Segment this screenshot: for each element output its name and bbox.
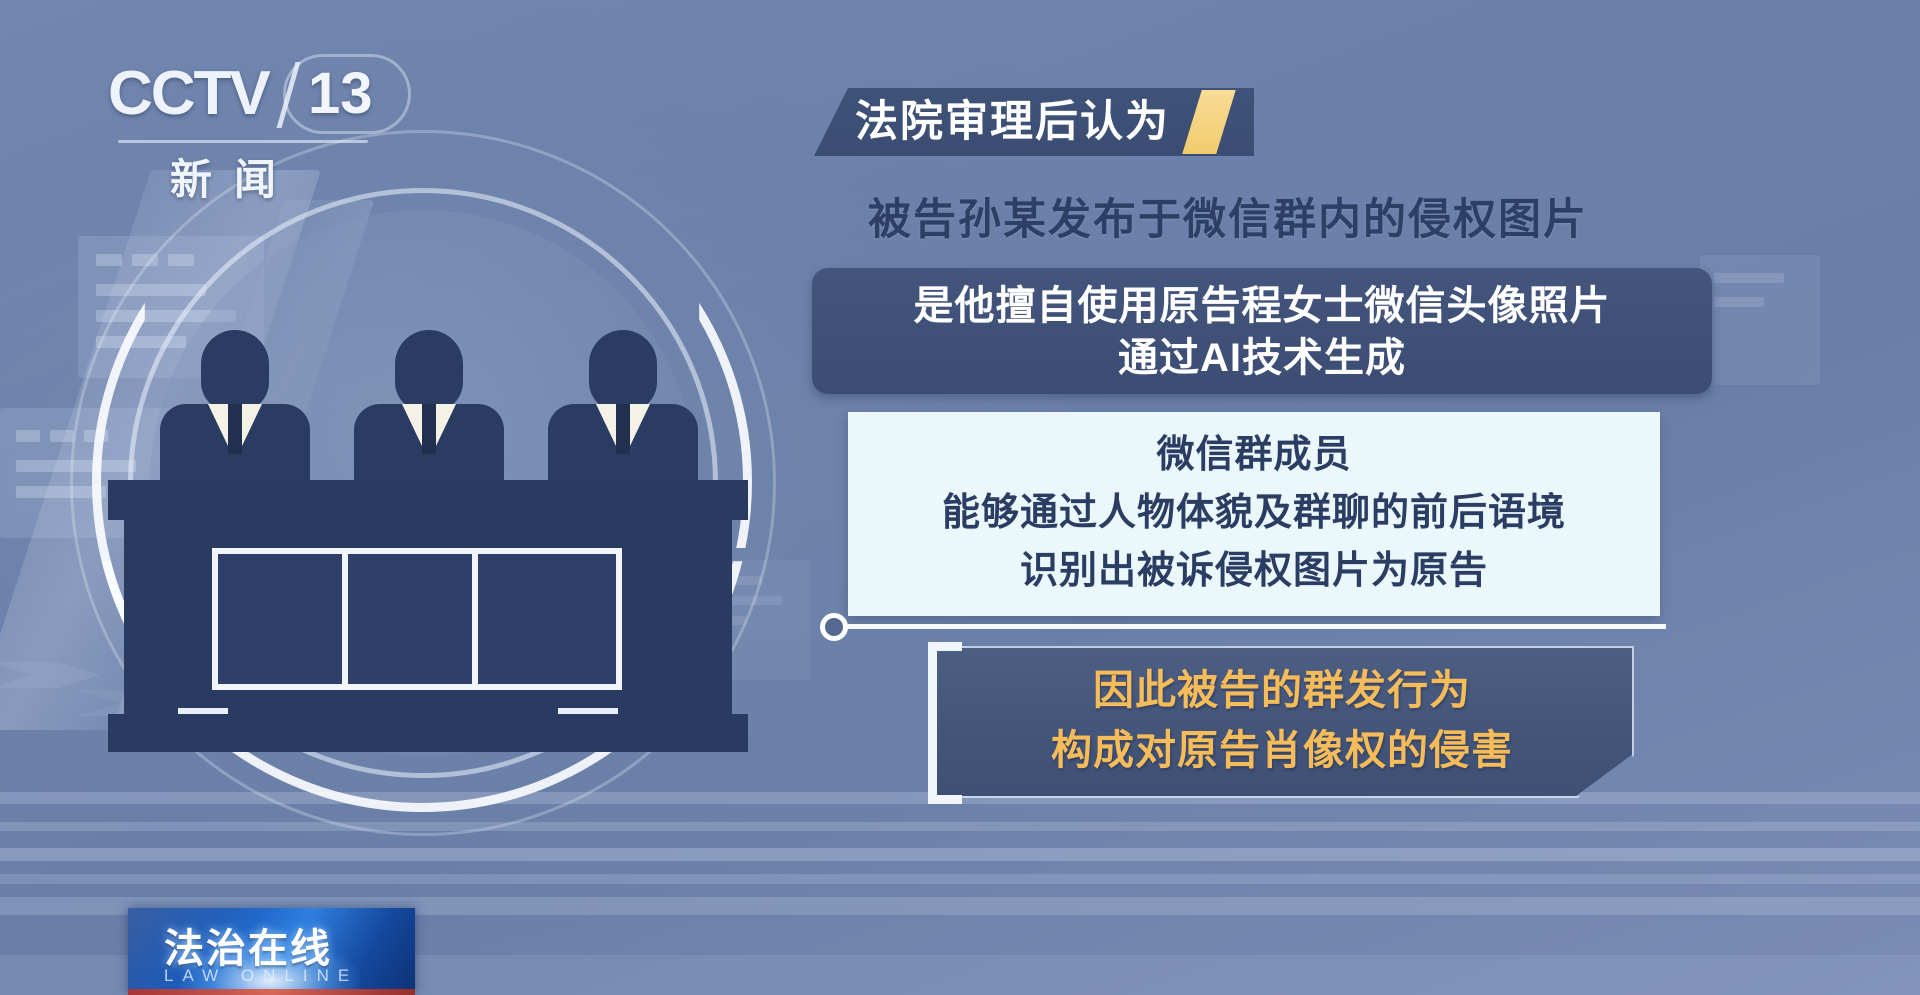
judge-figure <box>548 330 698 480</box>
judge-head-icon <box>201 330 269 412</box>
judge-head-icon <box>395 330 463 412</box>
judge-collar-left-icon <box>208 404 228 446</box>
statement-dark-box: 是他擅自使用原告程女士微信头像照片 通过AI技术生成 <box>812 268 1712 394</box>
bench-panel-icon <box>342 548 492 690</box>
judge-tie-icon <box>422 404 436 454</box>
channel-name-cn: 新闻 <box>170 146 298 207</box>
judge-collar-left-icon <box>402 404 422 446</box>
program-logo: 法治在线 LAW ONLINE <box>128 908 415 995</box>
channel-number: 13 <box>308 60 373 127</box>
bench-panel-icon <box>212 548 362 690</box>
judge-figure <box>354 330 504 480</box>
gold-box-bracket-icon <box>928 642 962 804</box>
judge-collar-right-icon <box>242 404 262 446</box>
light-box-line-3: 识别出被诉侵权图片为原告 <box>848 542 1660 600</box>
logo-underline <box>118 140 368 143</box>
court-illustration <box>108 330 748 760</box>
program-name-en: LAW ONLINE <box>164 966 358 986</box>
cctv-brand-text: CCTV <box>108 58 269 129</box>
bench-panel-icon <box>472 548 622 690</box>
bench-top-icon <box>108 480 748 520</box>
node-dot-icon <box>820 613 848 641</box>
headline-label: 法院审理后认为 <box>855 92 1170 152</box>
bench-base-icon <box>108 714 748 752</box>
background-stripe <box>0 822 1920 831</box>
judge-collar-right-icon <box>630 404 650 446</box>
slash-divider-icon <box>277 62 301 128</box>
gold-box-line-1: 因此被告的群发行为 <box>932 660 1632 720</box>
judge-tie-icon <box>228 404 242 454</box>
statement-gold-box: 因此被告的群发行为 构成对原告肖像权的侵害 <box>932 648 1632 796</box>
judge-head-icon <box>589 330 657 412</box>
statement-plain-line: 被告孙某发布于微信群内的侵权图片 <box>868 192 1588 248</box>
logo-accent-bar <box>128 989 415 995</box>
background-chevron-icon <box>0 662 100 688</box>
light-box-line-1: 微信群成员 <box>848 426 1660 484</box>
channel-number-capsule <box>283 54 411 134</box>
judge-collar-right-icon <box>436 404 456 446</box>
background-document-card-3 <box>1700 255 1820 385</box>
judge-tie-icon <box>616 404 630 454</box>
judge-collar-left-icon <box>596 404 616 446</box>
dark-box-line-1: 是他擅自使用原告程女士微信头像照片 <box>812 280 1712 332</box>
judge-figure <box>160 330 310 480</box>
broadcast-screen: CCTV 13 新闻 <box>0 0 1920 995</box>
background-stripe <box>0 848 1920 861</box>
connector-line-icon <box>846 624 1666 629</box>
light-box-line-2: 能够通过人物体貌及群聊的前后语境 <box>848 484 1660 542</box>
gold-box-line-2: 构成对原告肖像权的侵害 <box>932 720 1632 780</box>
dark-box-line-2: 通过AI技术生成 <box>812 332 1712 384</box>
background-stripe <box>0 874 1920 884</box>
statement-light-box: 微信群成员 能够通过人物体貌及群聊的前后语境 识别出被诉侵权图片为原告 <box>848 412 1660 616</box>
cctv13-logo: CCTV 13 新闻 <box>108 58 398 190</box>
